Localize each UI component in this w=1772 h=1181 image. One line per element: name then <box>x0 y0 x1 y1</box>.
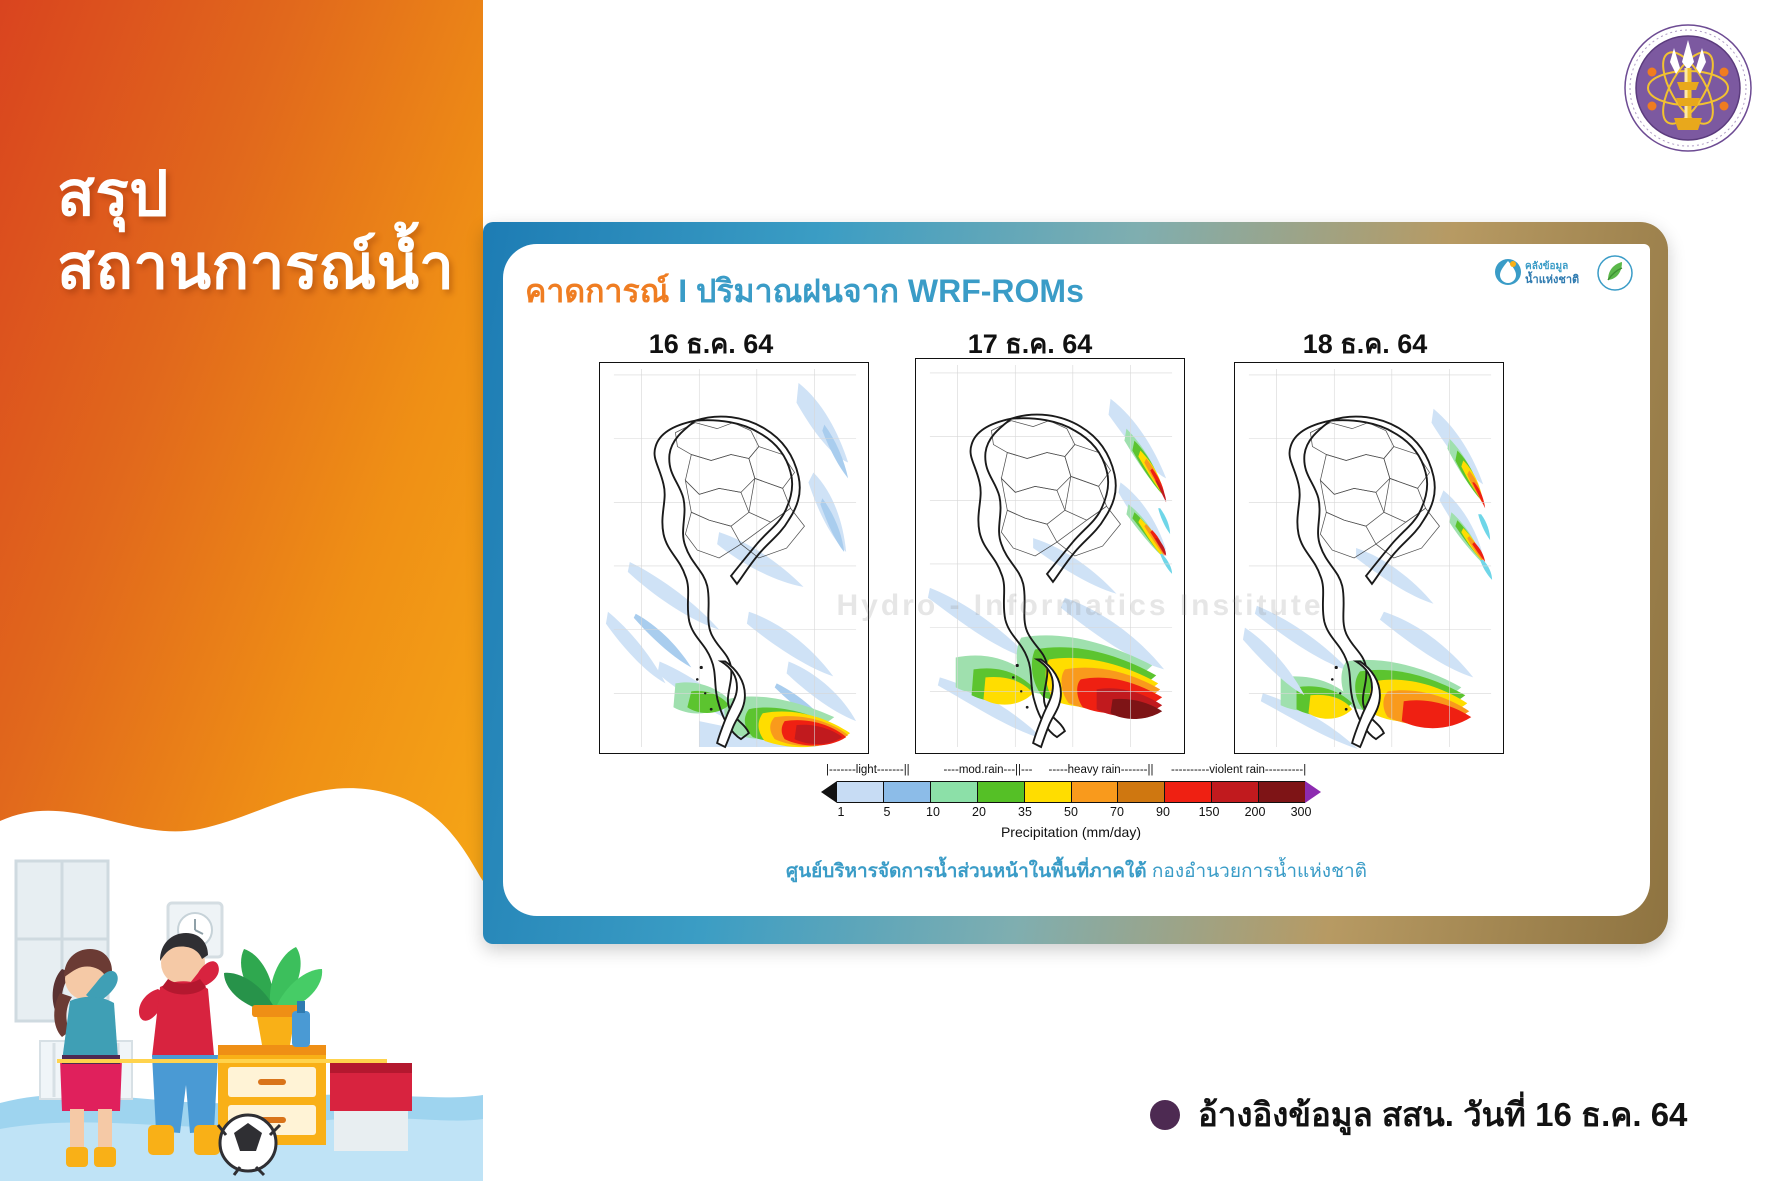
forecast-map-row <box>525 362 1635 767</box>
page-title-line1: สรุป <box>57 160 169 229</box>
forecast-map-18-dec[interactable] <box>1234 362 1504 754</box>
forecast-map-17-dec[interactable] <box>915 358 1185 754</box>
legend-tick: 150 <box>1199 805 1220 819</box>
reference-text: อ้างอิงข้อมูล สสน. วันที่ 16 ธ.ค. 64 <box>1198 1088 1687 1141</box>
slide-title-orange: คาดการณ์ <box>525 273 669 309</box>
legend-category-labels: |-------light-------|| ----mod.rain---||… <box>821 764 1321 781</box>
legend-category: |-------light-------|| <box>826 764 910 776</box>
legend-color-cell <box>883 782 930 802</box>
slide-title: คาดการณ์ I ปริมาณฝนจาก WRF-ROMs <box>525 266 1084 317</box>
map-date-label: 18 ธ.ค. 64 <box>1215 322 1515 365</box>
legend-category: ----mod.rain---||--- <box>944 764 1033 776</box>
legend-tick: 20 <box>972 805 986 819</box>
left-sidebar: สรุป สถานการณ์น้ำ <box>0 0 483 1181</box>
legend-color-cell <box>1164 782 1211 802</box>
legend-arrow-left-icon <box>821 781 837 803</box>
legend-tick: 70 <box>1110 805 1124 819</box>
svg-text:น้ำแห่งชาติ: น้ำแห่งชาติ <box>1525 271 1579 286</box>
ministry-logo-icon <box>1622 22 1754 154</box>
legend-color-cell <box>1071 782 1118 802</box>
legend-color-cell <box>837 782 883 802</box>
nhc-leaf-logo-icon <box>1596 254 1634 292</box>
legend-color-cell <box>930 782 977 802</box>
slide-footer-bold: ศูนย์บริหารจัดการน้ำส่วนหน้าในพื้นที่ภาค… <box>786 861 1147 882</box>
legend-tick: 200 <box>1245 805 1266 819</box>
map-date-label: 16 ธ.ค. 64 <box>561 322 861 365</box>
precipitation-legend: |-------light-------|| ----mod.rain---||… <box>821 764 1321 840</box>
legend-tick: 90 <box>1156 805 1170 819</box>
reference-note: อ้างอิงข้อมูล สสน. วันที่ 16 ธ.ค. 64 <box>1150 1088 1687 1141</box>
legend-arrow-right-icon <box>1305 781 1321 803</box>
forecast-map-16-dec[interactable] <box>599 362 869 754</box>
legend-tick: 10 <box>926 805 940 819</box>
slide-card: คาดการณ์ I ปริมาณฝนจาก WRF-ROMs คลังข้อม… <box>483 222 1668 944</box>
legend-tick: 300 <box>1291 805 1312 819</box>
legend-color-cell <box>1024 782 1071 802</box>
legend-color-cell <box>977 782 1024 802</box>
legend-color-cells <box>837 781 1305 803</box>
slide-footer-light: กองอำนวยการน้ำแห่งชาติ <box>1152 861 1367 882</box>
legend-color-cell <box>1117 782 1164 802</box>
people-at-home-illustration <box>0 711 483 1181</box>
hii-water-logo-icon: คลังข้อมูล น้ำแห่งชาติ <box>1494 252 1586 294</box>
map-date-headers: 16 ธ.ค. 64 17 ธ.ค. 64 18 ธ.ค. 64 <box>525 322 1630 362</box>
legend-tick: 35 <box>1018 805 1032 819</box>
legend-tick: 1 <box>838 805 845 819</box>
page-title-line2: สถานการณ์น้ำ <box>57 231 454 304</box>
legend-color-cell <box>1211 782 1258 802</box>
slide-title-blue: I ปริมาณฝนจาก WRF-ROMs <box>678 273 1084 309</box>
slide-footer-caption: ศูนย์บริหารจัดการน้ำส่วนหน้าในพื้นที่ภาค… <box>503 856 1650 886</box>
page-title: สรุป สถานการณ์น้ำ <box>57 158 454 304</box>
legend-tick: 5 <box>884 805 891 819</box>
legend-tick: 50 <box>1064 805 1078 819</box>
brand-marks: คลังข้อมูล น้ำแห่งชาติ <box>1494 252 1634 294</box>
svg-text:คลังข้อมูล: คลังข้อมูล <box>1525 260 1568 273</box>
legend-category: -----heavy rain-------|| <box>1049 764 1154 776</box>
legend-axis-label: Precipitation (mm/day) <box>821 824 1321 840</box>
sidebar-accent-rule <box>57 1059 387 1063</box>
bullet-dot-icon <box>1150 1100 1180 1130</box>
legend-color-cell <box>1258 782 1305 802</box>
legend-tick-labels: 15102035507090150200300 <box>821 803 1321 823</box>
slide-content: คาดการณ์ I ปริมาณฝนจาก WRF-ROMs คลังข้อม… <box>503 244 1650 916</box>
legend-category: ----------violent rain----------| <box>1171 764 1306 776</box>
legend-colorbar <box>821 781 1321 803</box>
